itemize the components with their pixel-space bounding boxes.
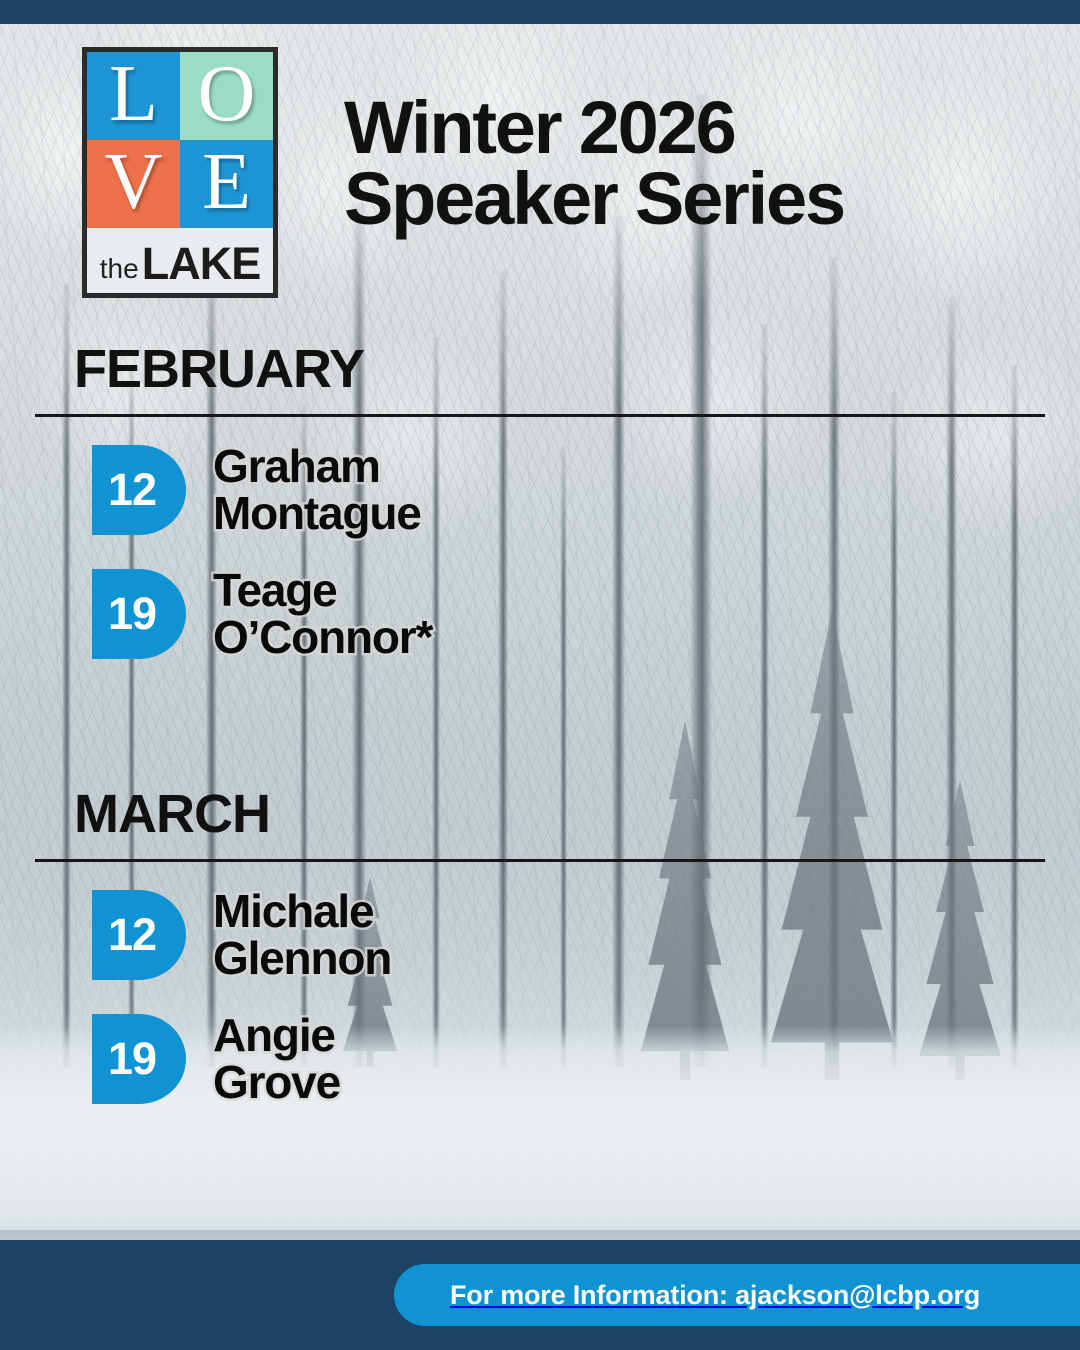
contact-info-text: For more Information: ajackson@lcbp.org [450,1280,980,1311]
logo-letter-o: O [180,52,273,140]
speaker-name: Graham Montague [213,443,421,537]
logo-wordmark: the LAKE [87,228,273,298]
speaker-name-line-1: Teage [213,567,432,614]
event-row[interactable]: 19 Angie Grove [92,1012,1080,1106]
speaker-name-line-1: Angie [213,1012,340,1059]
date-badge: 19 [92,1014,186,1104]
logo-letter-v: V [87,140,180,228]
poster-canvas: L O V E the LAKE Winter 2026 Speaker Ser… [0,0,1080,1350]
speaker-name-line-2: Grove [213,1059,340,1106]
speaker-name-line-1: Graham [213,443,421,490]
speaker-name-line-1: Michale [213,888,391,935]
contact-info-pill[interactable]: For more Information: ajackson@lcbp.org [394,1264,1080,1326]
speaker-name-line-2: Montague [213,490,421,537]
logo-letter-l: L [87,52,180,140]
footer-bar: For more Information: ajackson@lcbp.org [0,1240,1080,1350]
speaker-name: Michale Glennon [213,888,391,982]
event-row[interactable]: 19 Teage O’Connor* [92,567,1080,661]
month-heading-march: MARCH [74,787,1080,841]
top-accent-bar [0,0,1080,24]
month-section-february: FEBRUARY 12 Graham Montague 19 Teage O’C… [0,342,1080,661]
month-divider-march [35,859,1045,862]
logo-word-lake: LAKE [142,241,261,286]
month-heading-february: FEBRUARY [74,342,1080,396]
event-row[interactable]: 12 Michale Glennon [92,888,1080,982]
month-divider-february [35,414,1045,417]
date-badge: 12 [92,890,186,980]
speaker-name-line-2: O’Connor* [213,614,432,661]
speaker-name: Teage O’Connor* [213,567,432,661]
love-the-lake-logo: L O V E the LAKE [82,47,278,298]
logo-letter-grid: L O V E [87,52,273,228]
speaker-name: Angie Grove [213,1012,340,1106]
month-section-march: MARCH 12 Michale Glennon 19 Angie Grove [0,787,1080,1106]
date-badge: 12 [92,445,186,535]
date-badge: 19 [92,569,186,659]
logo-word-the: the [100,255,139,283]
speaker-name-line-2: Glennon [213,935,391,982]
page-title: Winter 2026 Speaker Series [344,92,844,234]
logo-letter-e: E [180,140,273,228]
event-row[interactable]: 12 Graham Montague [92,443,1080,537]
title-line-2: Speaker Series [344,163,844,234]
